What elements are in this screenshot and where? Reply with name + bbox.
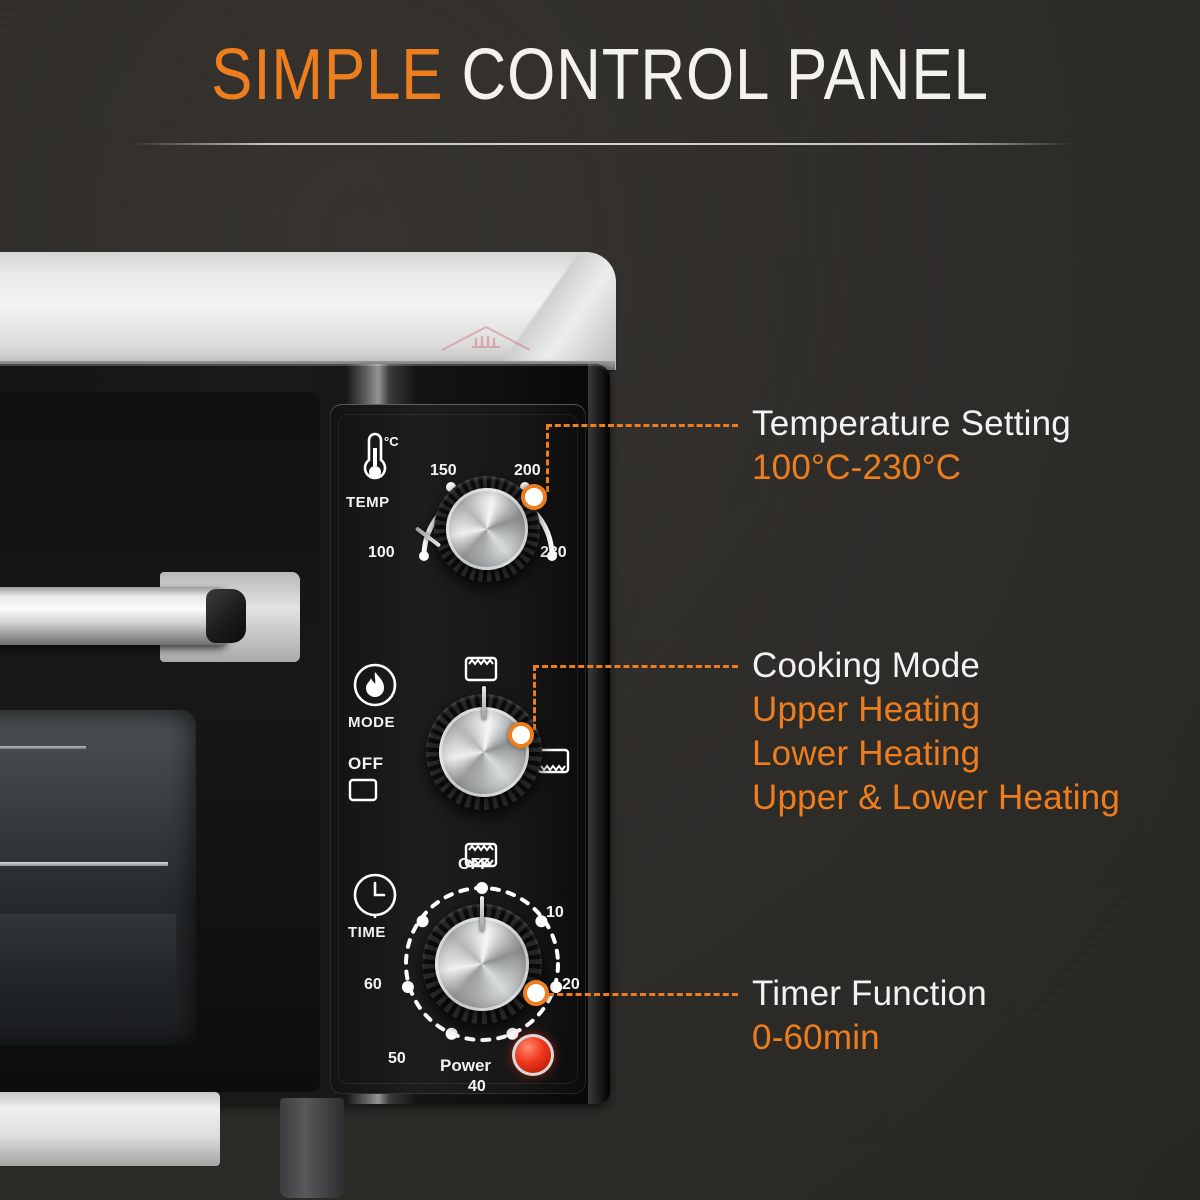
- callout-temperature-setting: Temperature Setting 100°C-230°C: [752, 404, 1071, 488]
- timer-tick-10: 10: [546, 904, 564, 922]
- temp-tick-230: 230: [540, 544, 567, 562]
- timer-tick-40: 40: [468, 1078, 486, 1096]
- callout-line: 0-60min: [752, 1018, 987, 1058]
- oven-top-bevel: [496, 252, 616, 370]
- callout-line: Lower Heating: [752, 734, 1120, 774]
- mode-leader-horizontal: [533, 665, 738, 668]
- callout-title: Temperature Setting: [752, 404, 1071, 444]
- temp-leader-horizontal: [546, 424, 738, 427]
- timer-tick-50: 50: [388, 1050, 406, 1068]
- temp-tick-200: 200: [514, 462, 541, 480]
- timer-tick-20: 20: [562, 976, 580, 994]
- title-rest: CONTROL PANEL: [443, 35, 988, 115]
- door-bottom-trim: [0, 1092, 220, 1166]
- mode-off-label: OFF: [348, 754, 384, 774]
- callout-title: Timer Function: [752, 974, 987, 1014]
- title-divider: [132, 143, 1072, 145]
- callout-cooking-mode: Cooking Mode Upper Heating Lower Heating…: [752, 646, 1120, 818]
- mode-leader-vertical: [533, 665, 536, 730]
- time-label: TIME: [348, 924, 386, 941]
- oven-top-panel: [0, 252, 615, 370]
- temperature-knob-cap[interactable]: [446, 488, 528, 570]
- page-title: SIMPLE CONTROL PANEL: [84, 34, 1116, 116]
- temp-leader-vertical: [546, 424, 549, 492]
- oven-rack: [0, 862, 168, 866]
- power-indicator-label: Power: [440, 1056, 491, 1076]
- timer-knob-pointer: [480, 896, 484, 932]
- brand-triangle-logo: [438, 324, 534, 352]
- callout-line: 100°C-230°C: [752, 448, 1071, 488]
- oven-rack-rail: [0, 746, 86, 749]
- callout-title: Cooking Mode: [752, 646, 1120, 686]
- temp-tick-150: 150: [430, 462, 457, 480]
- oven-door[interactable]: [0, 392, 320, 1092]
- temp-callout-dot[interactable]: [521, 484, 547, 510]
- callout-line: Upper Heating: [752, 690, 1120, 730]
- callout-line: Upper & Lower Heating: [752, 778, 1120, 818]
- mode-callout-dot[interactable]: [508, 722, 534, 748]
- mode-knob-cap[interactable]: [439, 707, 529, 797]
- title-highlight: SIMPLE: [211, 35, 443, 115]
- door-glass-window: [0, 710, 196, 1046]
- mode-label: MODE: [348, 714, 395, 731]
- temp-label: TEMP: [346, 494, 390, 511]
- timer-leader-horizontal: [548, 993, 738, 996]
- mode-knob-pointer: [482, 686, 486, 720]
- door-handle[interactable]: [0, 587, 228, 645]
- timer-tick-60: 60: [364, 976, 382, 994]
- temp-tick-100: 100: [368, 544, 395, 562]
- oven-leg: [280, 1098, 344, 1198]
- callout-timer-function: Timer Function 0-60min: [752, 974, 987, 1058]
- power-led: [512, 1034, 554, 1076]
- oven-cavity-floor: [0, 914, 176, 1018]
- timer-callout-dot[interactable]: [523, 980, 549, 1006]
- timer-tick-off: OFF: [458, 856, 490, 874]
